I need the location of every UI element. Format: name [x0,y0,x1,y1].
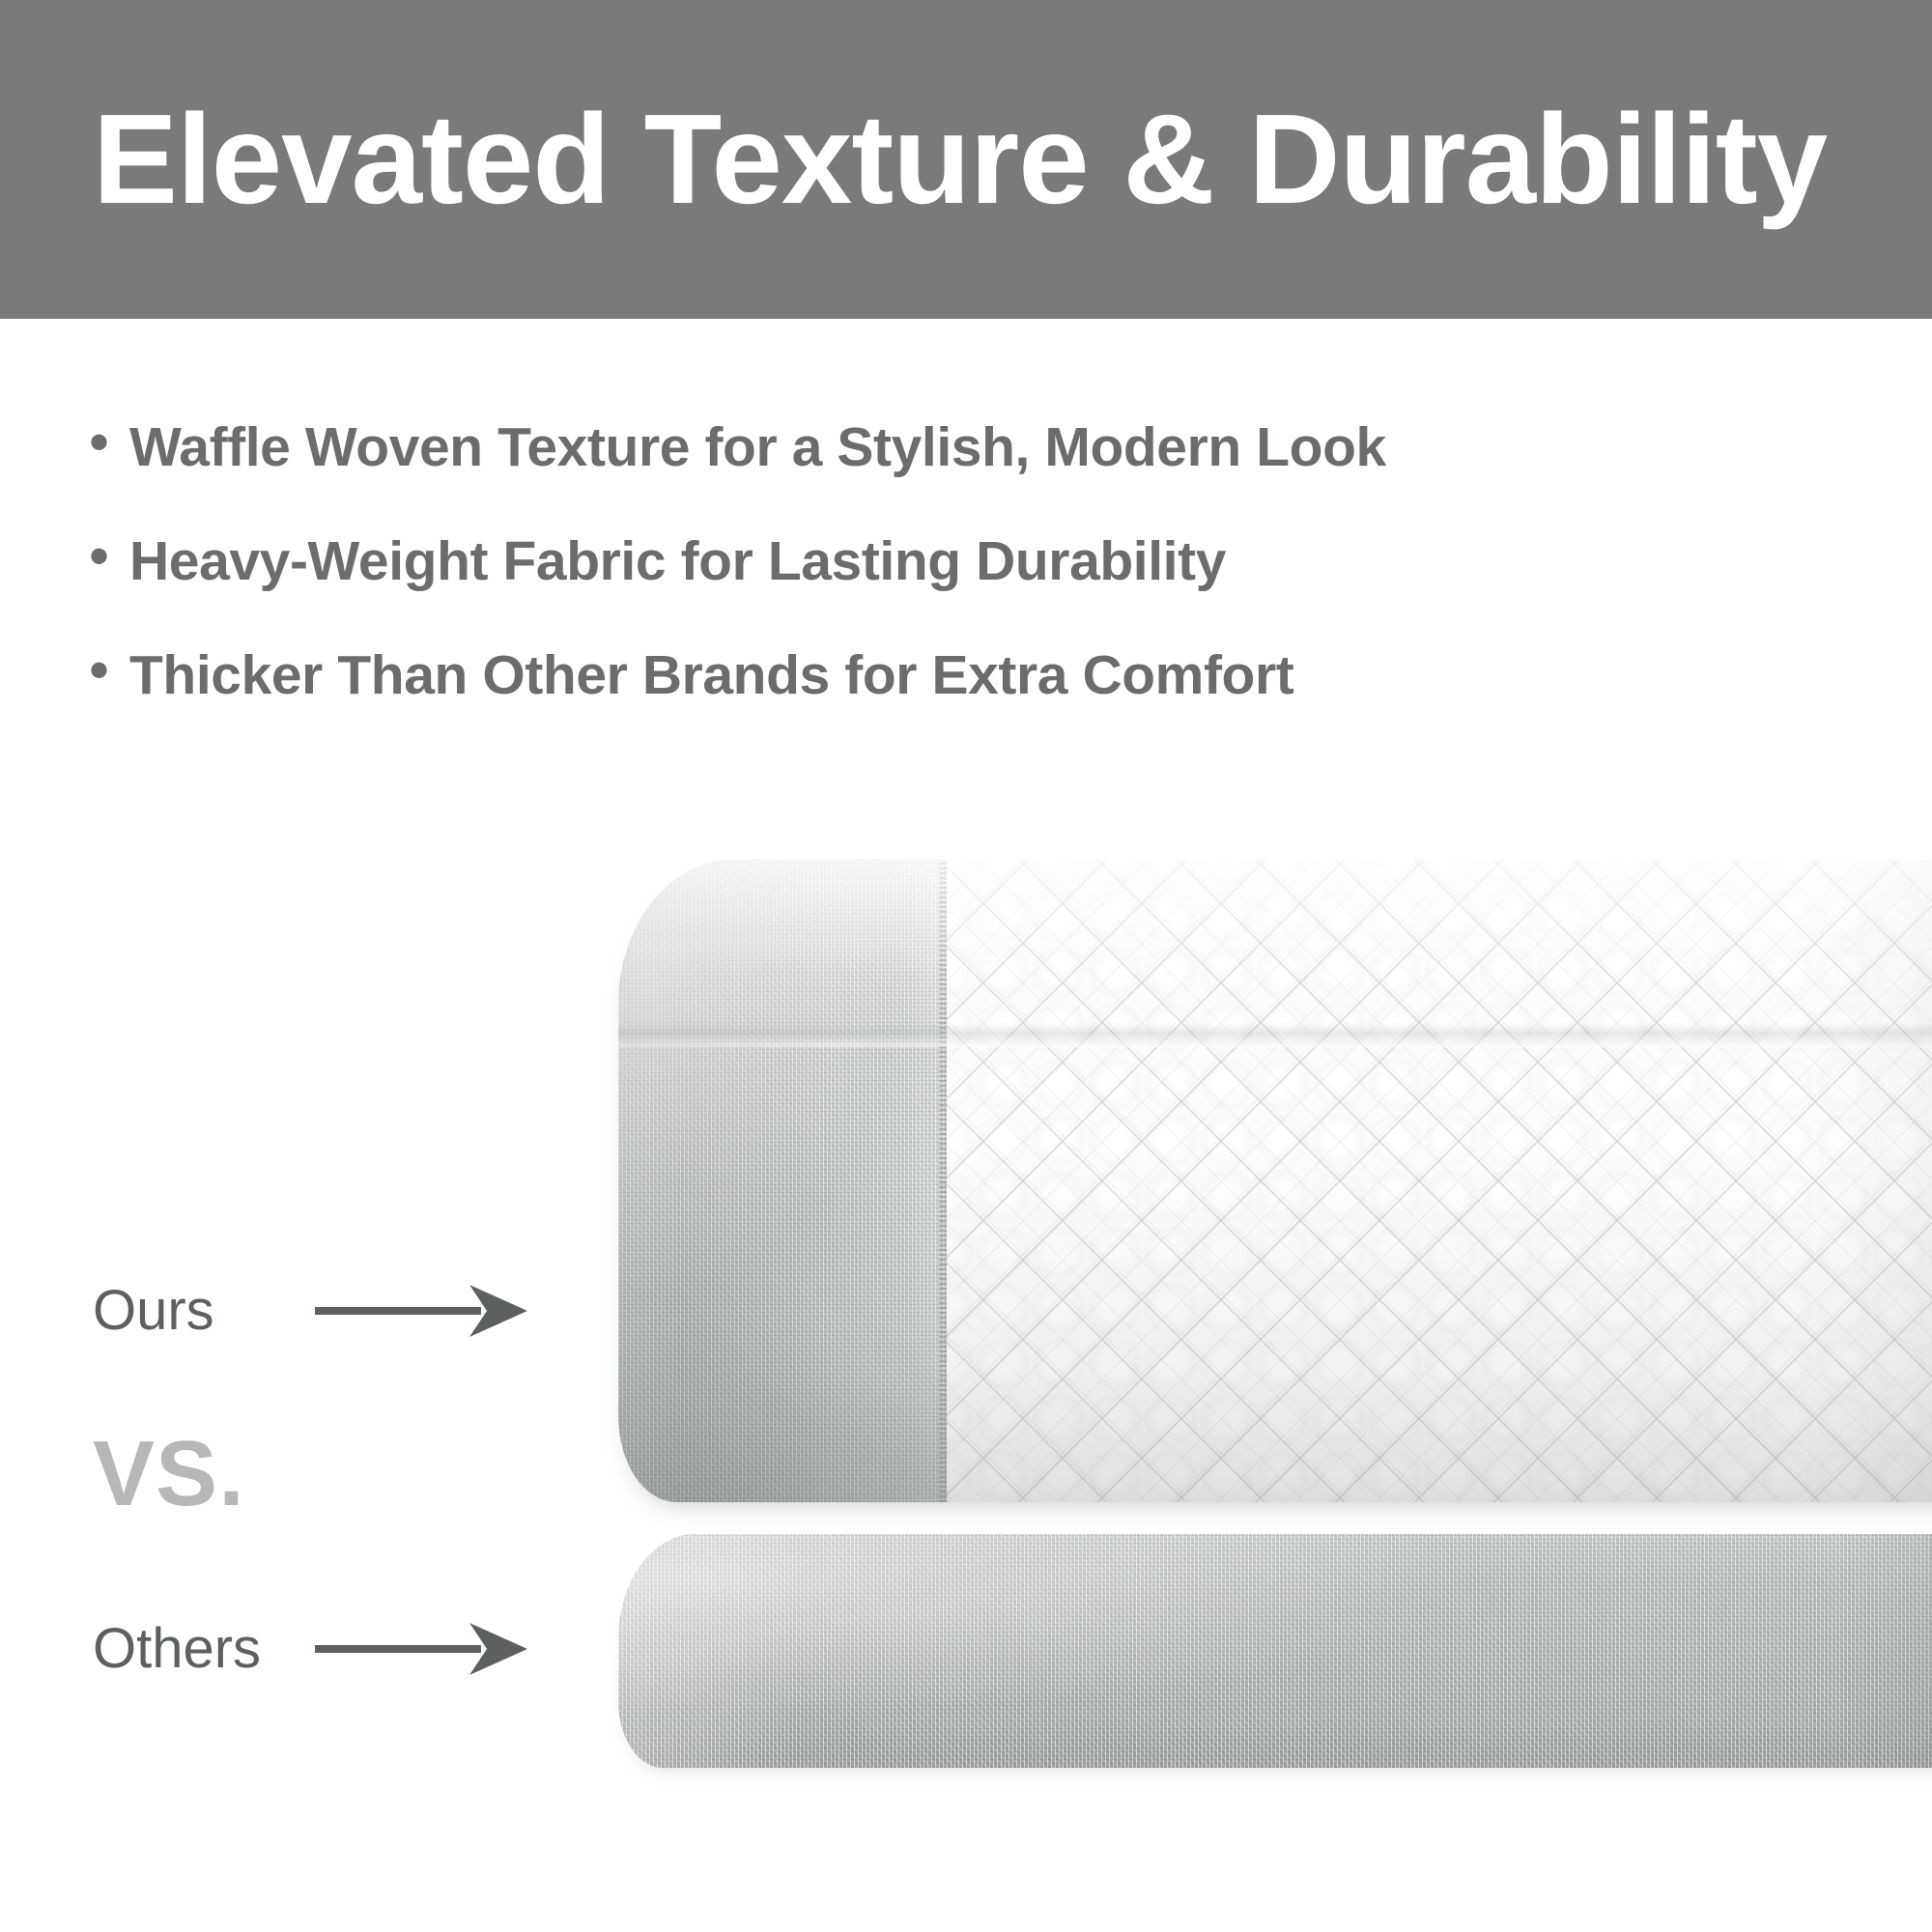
ours-callout: Ours [93,1277,527,1345]
bullet-dot-icon: • [89,527,129,585]
product-comparison-image [0,831,1932,1932]
others-towel-image [618,1534,1932,1768]
feature-text: Waffle Woven Texture for a Stylish, Mode… [129,420,1386,475]
waffle-lattice-texture [947,860,1932,1502]
ours-label: Ours [93,1283,315,1339]
list-item: • Thicker Than Other Brands for Extra Co… [89,645,1828,759]
arrow-right-icon [315,1615,527,1683]
list-item: • Waffle Woven Texture for a Stylish, Mo… [89,417,1828,531]
feature-text: Thicker Than Other Brands for Extra Comf… [129,648,1293,703]
feature-text: Heavy-Weight Fabric for Lasting Durabili… [129,534,1226,589]
others-towel-fabric [618,1534,1932,1768]
linen-weave-texture [618,860,947,1502]
ours-towel-waffle-panel [947,860,1932,1502]
others-callout: Others [93,1615,527,1683]
others-label: Others [93,1621,315,1677]
linen-weave-texture [618,1534,1932,1768]
vs-callout: VS. [93,1428,245,1520]
bullet-dot-icon: • [89,641,129,699]
list-item: • Heavy-Weight Fabric for Lasting Durabi… [89,531,1828,645]
page-title: Elevated Texture & Durability [0,96,1827,223]
bullet-dot-icon: • [89,413,129,471]
arrow-right-icon [315,1277,527,1345]
ours-towel-gray-band [618,860,947,1502]
vs-label: VS. [93,1422,245,1525]
header-bar: Elevated Texture & Durability [0,0,1932,319]
feature-list: • Waffle Woven Texture for a Stylish, Mo… [89,417,1828,759]
ours-towel-image [618,860,1932,1502]
